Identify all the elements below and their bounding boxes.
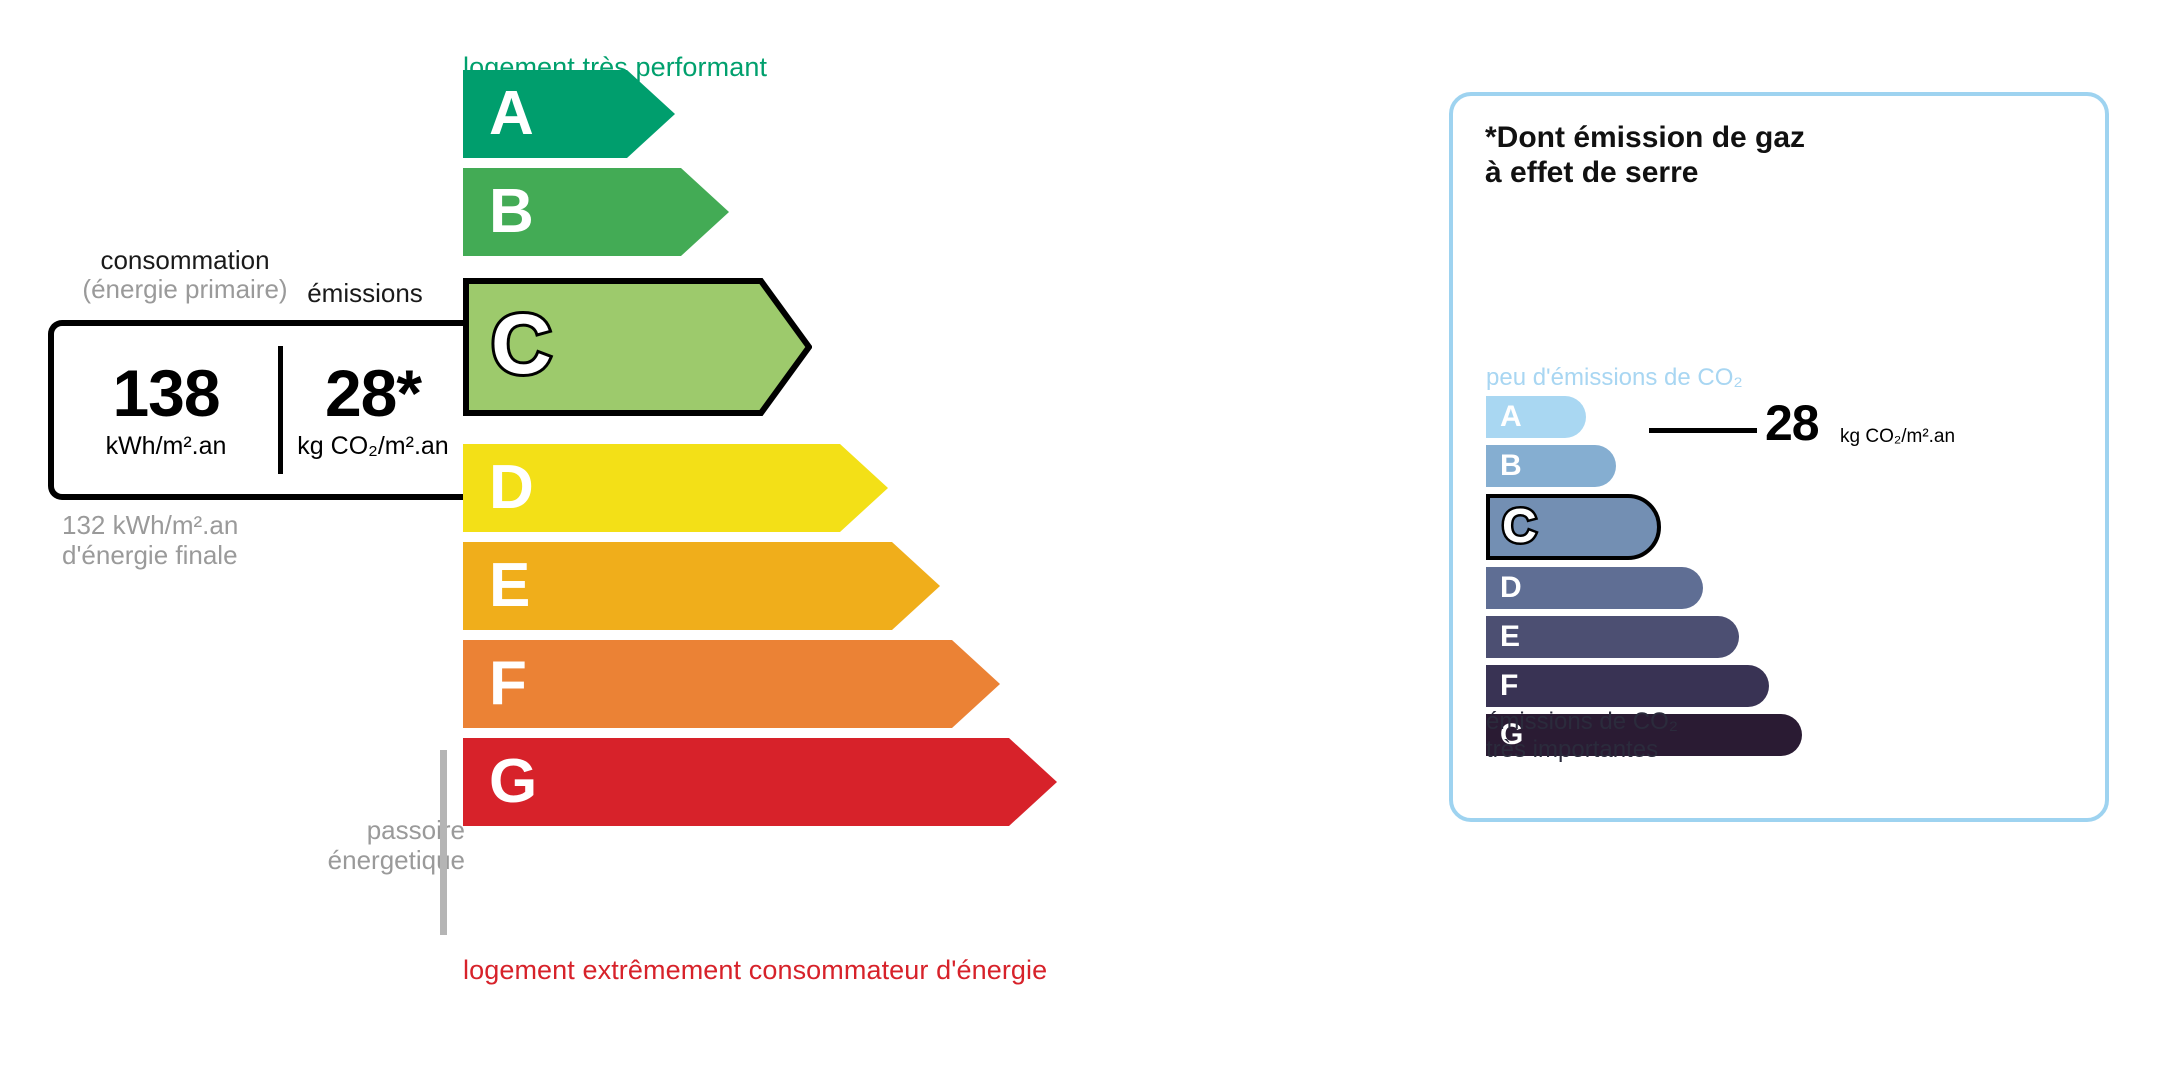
energy-bar-e: E (463, 542, 940, 630)
passoire-line1: passoire (255, 815, 465, 845)
consumption-cell: 138 kWh/m².an (54, 360, 278, 461)
final-energy-line2: d'énergie finale (62, 540, 238, 570)
energy-bar-letter-c: C (491, 302, 552, 386)
ges-bottom-caption-line1: émissions de CO₂ (1486, 708, 1678, 736)
ges-bar-b: B (1486, 445, 1616, 487)
ges-title-line2: à effet de serre (1485, 155, 1805, 190)
energy-bar-shape-f (463, 640, 1000, 728)
energy-bar-letter-e: E (489, 555, 530, 617)
ges-unit: kg CO₂/m².an (1840, 426, 1955, 448)
ges-bar-letter-e: E (1500, 622, 1520, 652)
energy-bar-letter-a: A (489, 83, 534, 145)
consumption-value: 138 (54, 360, 278, 426)
energy-bar-letter-g: G (489, 751, 537, 813)
ges-bottom-caption: émissions de CO₂ très importantes (1486, 708, 1678, 765)
emissions-header: émissions (300, 278, 430, 309)
ges-panel: *Dont émission de gaz à effet de serre p… (1449, 92, 2109, 822)
ges-title-line1: *Dont émission de gaz (1485, 120, 1805, 155)
ges-bar-letter-b: B (1500, 451, 1522, 481)
ges-bar-d: D (1486, 567, 1703, 609)
ges-bar-e: E (1486, 616, 1739, 658)
energy-bottom-caption: logement extrêmement consommateur d'éner… (463, 955, 1047, 986)
energy-bar-d: D (463, 444, 888, 532)
dpe-energy-label: logement très performant consommation (é… (0, 0, 1300, 1079)
energy-bar-f: F (463, 640, 1000, 728)
energy-bar-shape-e (463, 542, 940, 630)
ges-bottom-caption-line2: très importantes (1486, 736, 1678, 764)
energy-bar-letter-b: B (489, 181, 534, 243)
energy-bar-shape-g (463, 738, 1057, 826)
energy-bar-letter-d: D (489, 457, 534, 519)
final-energy-line1: 132 kWh/m².an (62, 510, 238, 540)
consumption-header: consommation (énergie primaire) (65, 246, 305, 304)
ges-bar-f: F (1486, 665, 1769, 707)
energy-bar-c: C (463, 278, 806, 410)
emissions-cell: 28* kg CO₂/m².an (283, 360, 463, 461)
final-energy-note: 132 kWh/m².an d'énergie finale (62, 510, 238, 570)
passoire-bracket (440, 750, 447, 935)
emissions-value: 28* (283, 360, 463, 426)
energy-bar-a: A (463, 70, 675, 158)
emissions-unit: kg CO₂/m².an (283, 432, 463, 461)
energy-bar-g: G (463, 738, 1057, 826)
ges-bar-letter-a: A (1500, 402, 1522, 432)
ges-bar-letter-c: C (1502, 503, 1537, 551)
ges-leader-line (1649, 428, 1757, 433)
value-box: 138 kWh/m².an 28* kg CO₂/m².an (48, 320, 468, 500)
ges-title: *Dont émission de gaz à effet de serre (1485, 120, 1805, 191)
passoire-energetique-label: passoire énergetique (255, 815, 465, 875)
ges-value: 28 (1765, 398, 1819, 448)
ges-bar-a: A (1486, 396, 1586, 438)
ges-bar-c: C (1486, 494, 1661, 560)
ges-bar-letter-f: F (1500, 671, 1518, 701)
ges-bar-letter-d: D (1500, 573, 1522, 603)
consumption-header-line1: consommation (65, 246, 305, 275)
consumption-header-line2: (énergie primaire) (65, 275, 305, 304)
ges-top-caption: peu d'émissions de CO₂ (1486, 364, 1743, 392)
energy-bar-letter-f: F (489, 653, 527, 715)
passoire-line2: énergetique (255, 845, 465, 875)
energy-bar-b: B (463, 168, 729, 256)
consumption-unit: kWh/m².an (54, 432, 278, 461)
